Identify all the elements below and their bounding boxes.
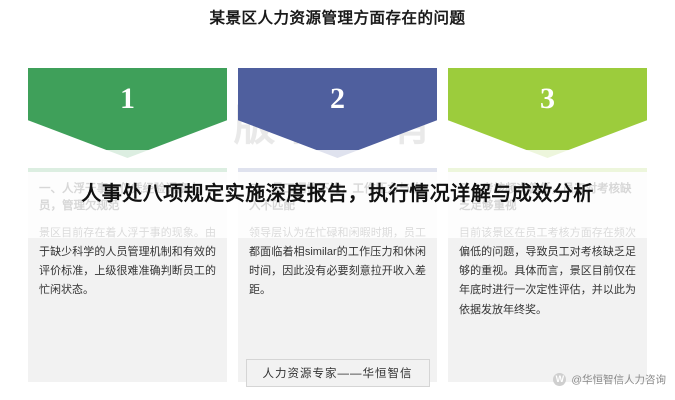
- weibo-icon: W: [553, 373, 566, 386]
- page-title: 某景区人力资源管理方面存在的问题: [0, 6, 675, 28]
- overlay-banner: 人事处八项规定实施深度报告，执行情况详解与成效分析: [0, 150, 675, 238]
- pennant-number-1: 1: [28, 82, 227, 116]
- pennant-badge-3: 3: [448, 68, 647, 158]
- pennant-badge-2: 2: [238, 68, 437, 158]
- watermark-logo-text: @华恒智信人力咨询: [571, 372, 666, 387]
- pennant-number-2: 2: [238, 82, 437, 116]
- footer-tag: 人力资源专家——华恒智信: [246, 359, 430, 387]
- pennant-number-3: 3: [448, 82, 647, 116]
- document-page: 某景区人力资源管理方面存在的问题 版权所有 1 一、人浮于事，仅凭经验调度人员，…: [0, 0, 675, 400]
- overlay-headline: 人事处八项规定实施深度报告，执行情况详解与成效分析: [38, 179, 638, 209]
- watermark-logo: W @华恒智信人力咨询: [553, 372, 666, 387]
- pennant-badge-1: 1: [28, 68, 227, 158]
